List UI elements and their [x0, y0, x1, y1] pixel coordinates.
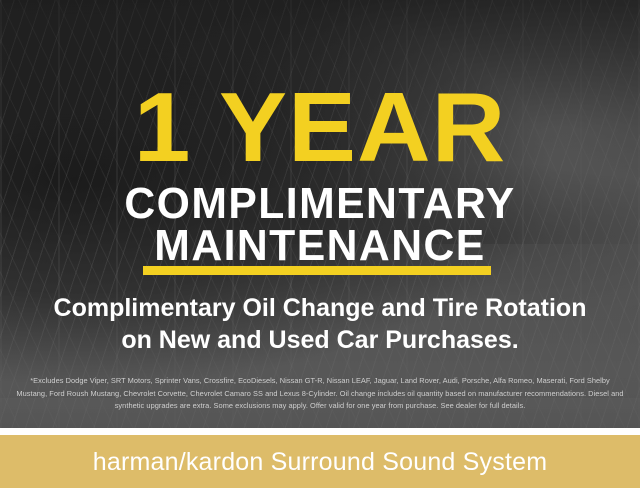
- tagline-block: Complimentary Oil Change and Tire Rotati…: [20, 292, 620, 356]
- tagline-line-2: on New and Used Car Purchases.: [20, 324, 620, 356]
- footer-feature-banner: harman/kardon Surround Sound System: [0, 435, 640, 488]
- ad-copy-stack: 1 YEAR COMPLIMENTARY MAINTENANCE Complim…: [0, 0, 640, 428]
- footer-banner-label: harman/kardon Surround Sound System: [93, 447, 547, 477]
- promotional-banner-ad: 1 YEAR COMPLIMENTARY MAINTENANCE Complim…: [0, 0, 640, 488]
- hero-image-section: 1 YEAR COMPLIMENTARY MAINTENANCE Complim…: [0, 0, 640, 428]
- headline-year: 1 YEAR: [0, 78, 640, 176]
- yellow-divider-rule: [143, 266, 491, 275]
- headline-maintenance: MAINTENANCE: [10, 224, 631, 268]
- white-separator-strip: [0, 428, 640, 435]
- disclaimer-fine-print: *Excludes Dodge Viper, SRT Motors, Sprin…: [14, 375, 626, 413]
- tagline-line-1: Complimentary Oil Change and Tire Rotati…: [54, 294, 587, 322]
- headline-complimentary: COMPLIMENTARY: [10, 182, 631, 226]
